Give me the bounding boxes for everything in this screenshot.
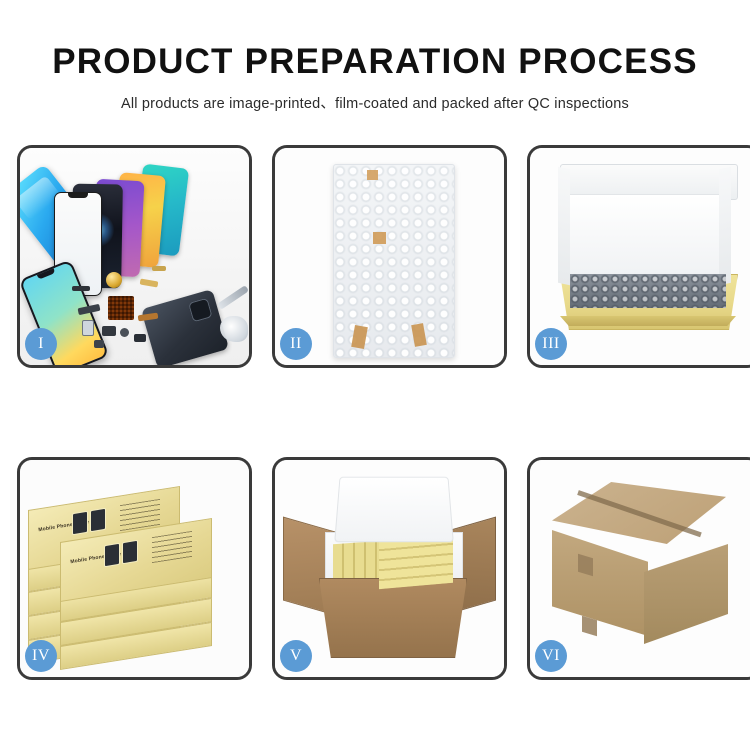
tape-piece (373, 232, 386, 244)
step-panel-5[interactable]: V (272, 457, 507, 680)
step-panel-2[interactable]: II (272, 145, 507, 368)
component-part (152, 266, 166, 271)
step-image-2 (275, 148, 504, 365)
component-part (140, 278, 159, 287)
step-panel-1[interactable]: I (17, 145, 252, 368)
step-panel-3[interactable]: III (527, 145, 750, 368)
bubble-wrapped-contents (570, 274, 726, 308)
box-wall-left (558, 167, 570, 286)
gold-coil-component (106, 272, 122, 288)
step-badge-3: III (535, 328, 567, 360)
component-part (102, 326, 116, 336)
carton-tape-patch (582, 616, 597, 637)
box-wall-right (719, 167, 731, 286)
page-title: PRODUCT PREPARATION PROCESS (0, 0, 750, 81)
step-panel-4[interactable]: Mobile Phone Spare Parts Mobile Phone Sp… (17, 457, 252, 680)
box-art-thumbnail (104, 543, 120, 568)
box-stack: Mobile Phone Spare Parts Mobile Phone Sp… (28, 482, 242, 666)
carton-side-face (644, 544, 728, 644)
component-part (120, 328, 129, 337)
step-image-1 (20, 148, 249, 365)
copper-chip-component (108, 296, 134, 320)
step-badge-4: IV (25, 640, 57, 672)
step-image-5 (275, 460, 504, 677)
box-art-thumbnail (122, 540, 138, 565)
step-image-4: Mobile Phone Spare Parts Mobile Phone Sp… (20, 460, 249, 677)
box-front-edge (560, 316, 736, 326)
header: PRODUCT PREPARATION PROCESS All products… (0, 0, 750, 113)
tape-piece (367, 170, 378, 180)
foam-lid (334, 477, 454, 543)
component-part (94, 340, 104, 348)
repair-tool (217, 285, 249, 310)
carton-front-face (552, 530, 648, 636)
product-preparation-infographic: PRODUCT PREPARATION PROCESS All products… (0, 0, 750, 750)
page-subtitle: All products are image-printed、film-coat… (0, 81, 750, 113)
component-part (82, 320, 94, 336)
bubble-wrap (333, 164, 455, 358)
component-part (72, 286, 90, 291)
carton-body (319, 578, 467, 658)
white-foam-sheet (568, 194, 730, 278)
step-badge-5: V (280, 640, 312, 672)
phone-back-housing (141, 289, 229, 365)
step-badge-2: II (280, 328, 312, 360)
tweezers-hand (220, 316, 248, 342)
steps-grid: I II (17, 145, 733, 690)
yellow-boxes-row (379, 535, 453, 589)
box-art-thumbnail (72, 511, 88, 536)
step-badge-6: VI (535, 640, 567, 672)
component-part (134, 334, 146, 342)
step-badge-1: I (25, 328, 57, 360)
step-panel-6[interactable]: VI (527, 457, 750, 680)
box-art-thumbnail (90, 508, 106, 533)
